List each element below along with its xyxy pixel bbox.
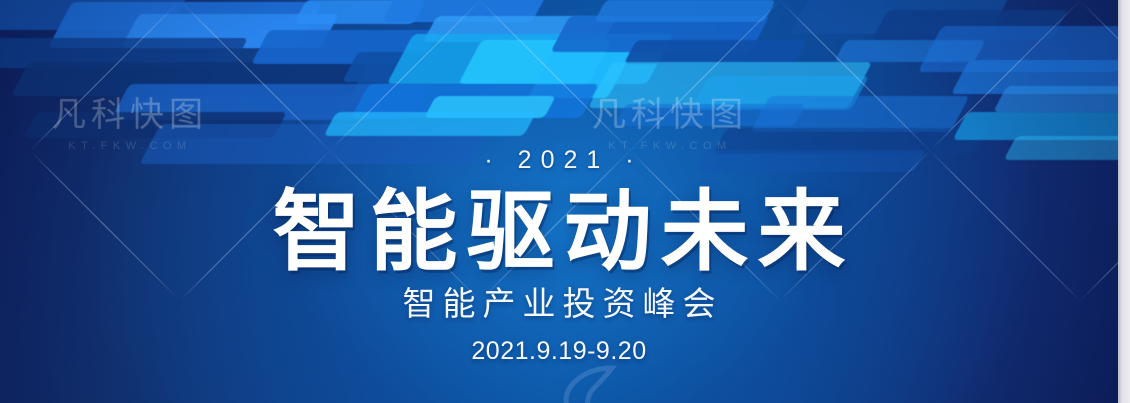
tech-bar-shape bbox=[834, 40, 986, 62]
banner-text-block: · 2021 · 智能驱动未来 智能产业投资峰会 2021.9.19-9.20 bbox=[0, 148, 1118, 366]
canvas-edge-strip bbox=[1118, 0, 1130, 403]
event-date: 2021.9.19-9.20 bbox=[0, 337, 1118, 366]
tech-bar-shape bbox=[624, 40, 807, 64]
banner-subtitle: 智能产业投资峰会 bbox=[0, 286, 1118, 322]
tech-bar-shape bbox=[324, 112, 537, 136]
event-year: · 2021 · bbox=[0, 148, 1118, 173]
tech-bar-shape bbox=[594, 0, 776, 22]
tech-bar-shape bbox=[750, 96, 969, 132]
banner-headline: 智能驱动未来 bbox=[0, 185, 1118, 278]
event-banner: 凡科快图 KT.FKW.COM 凡科快图 KT.FKW.COM · 2021 ·… bbox=[0, 0, 1118, 403]
tech-bar-shape bbox=[993, 86, 1118, 112]
